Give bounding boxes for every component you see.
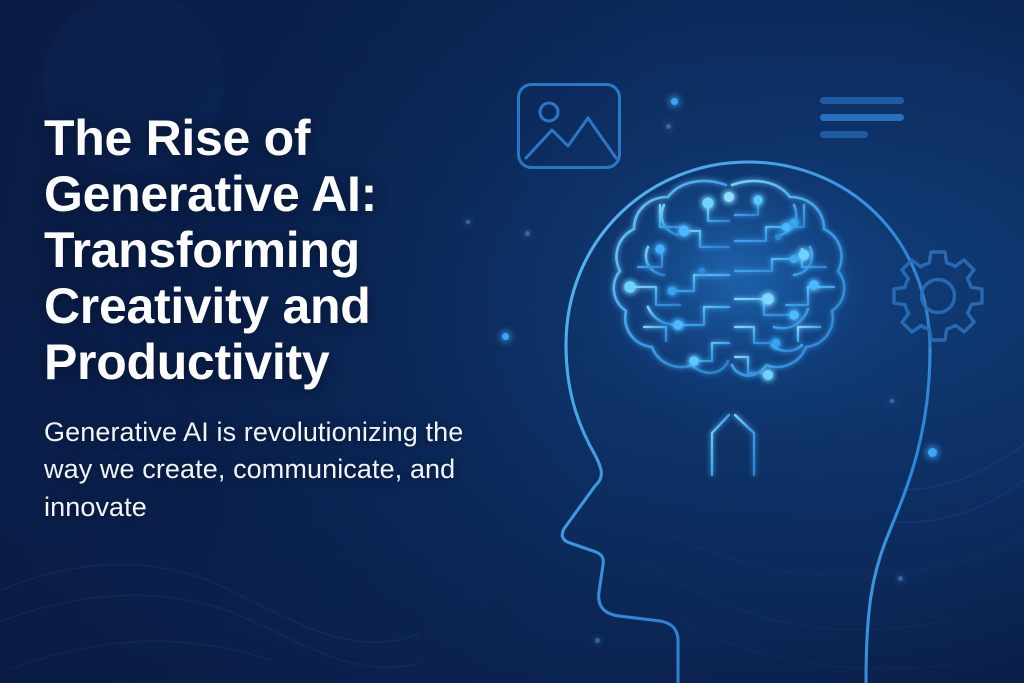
headline-line: Productivity <box>44 334 329 390</box>
subtitle-line: Generative AI is revolutionizing the <box>44 417 463 447</box>
headline-line: The Rise of <box>44 110 310 166</box>
page-subtitle: Generative AI is revolutionizing the way… <box>44 414 514 526</box>
particle <box>525 231 530 236</box>
headline-line: Transforming <box>44 222 360 278</box>
headline-line: Creativity and <box>44 278 370 334</box>
particle <box>898 576 903 581</box>
ai-hero-banner: The Rise of Generative AI: Transforming … <box>0 0 1024 683</box>
headline-block: The Rise of Generative AI: Transforming … <box>44 110 514 526</box>
particle <box>666 124 671 129</box>
subtitle-line: way we create, communicate, and innovate <box>44 454 455 521</box>
particle <box>928 448 937 457</box>
particle <box>595 638 600 643</box>
particle <box>890 399 894 403</box>
particle <box>671 98 678 105</box>
headline-line: Generative AI: <box>44 166 377 222</box>
page-title: The Rise of Generative AI: Transforming … <box>44 110 514 390</box>
